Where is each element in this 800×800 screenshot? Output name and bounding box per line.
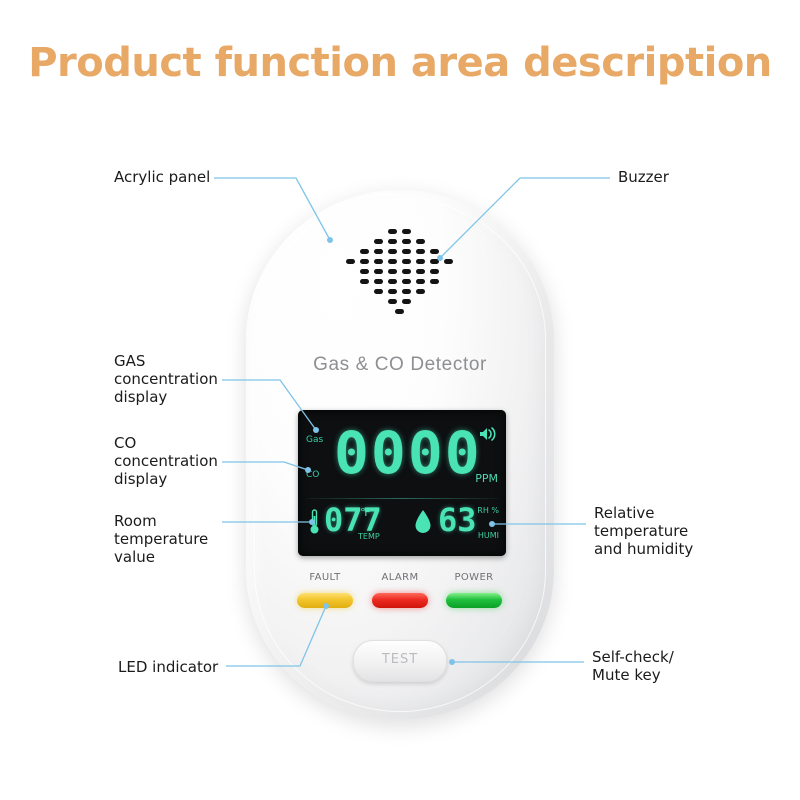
screen-divider [306,498,498,499]
page-title: Product function area description [0,40,800,86]
humidity-caption: HUMI [478,531,499,540]
lcd-screen: Gas CO 0000 PPM 077 ℉ TEMP 63 RH % HUMI [298,410,506,556]
led-fault [297,593,353,608]
test-button[interactable]: TEST [353,640,447,682]
screen-gas-label: Gas [306,435,323,445]
screen-co-label: CO [306,470,319,480]
humidity-value: 63 [438,504,477,536]
led-caption-power: POWER [438,572,510,583]
device-brand-text: Gas & CO Detector [246,354,554,376]
callout-gas-display: GAS concentration display [114,352,218,406]
led-caption-alarm: ALARM [364,572,436,583]
callout-acrylic-panel: Acrylic panel [114,168,210,186]
water-drop-icon [414,509,432,535]
humidity-block: 63 [438,504,477,536]
rh-percent-caption: RH % [477,506,499,515]
gas-concentration-value: 0000 [334,424,482,482]
callout-room-temperature: Room temperature value [114,512,208,566]
callout-buzzer: Buzzer [618,168,669,186]
callout-self-check-mute: Self-check/ Mute key [592,648,674,684]
test-button-label: TEST [354,652,446,667]
led-power [446,593,502,608]
thermometer-icon [308,508,321,536]
callout-co-display: CO concentration display [114,434,218,488]
buzzer-grille [338,227,462,321]
temperature-caption: TEMP [358,532,380,541]
led-caption-fault: FAULT [289,572,361,583]
ppm-unit-label: PPM [475,472,498,485]
callout-led-indicator: LED indicator [118,658,218,676]
callout-relative-humidity: Relative temperature and humidity [594,504,693,558]
temperature-unit-label: ℉ [360,506,370,519]
led-alarm [372,593,428,608]
speaker-icon [478,426,498,442]
